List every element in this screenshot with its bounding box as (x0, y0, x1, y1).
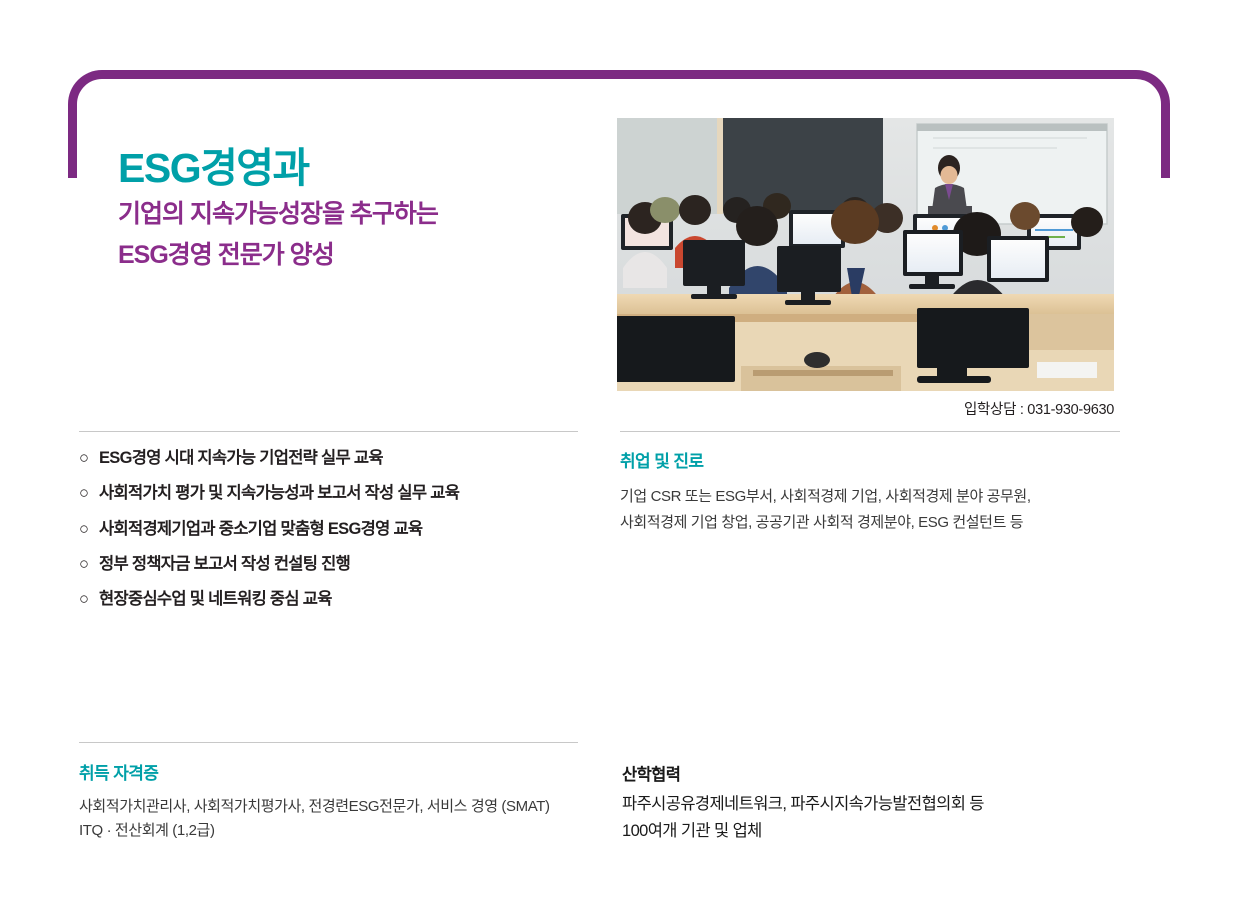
list-item: ○정부 정책자금 보고서 작성 컨설팅 진행 (79, 555, 599, 575)
feature-text: 사회적경제기업과 중소기업 맞춤형 ESG경영 교육 (99, 520, 422, 538)
list-item: ○현장중심수업 및 네트워킹 중심 교육 (79, 590, 599, 610)
certificates-line-2: ITQ · 전산회계 (1,2급) (79, 819, 599, 843)
frame-top-bar (102, 70, 1136, 79)
certificates-line-1: 사회적가치관리사, 사회적가치평가사, 전경련ESG전문가, 서비스 경영 (S… (79, 795, 599, 819)
cooperation-body: 파주시공유경제네트워크, 파주시지속가능발전협의회 등 100여개 기관 및 업… (622, 791, 1092, 844)
feature-text: 정부 정책자금 보고서 작성 컨설팅 진행 (99, 555, 350, 573)
admission-contact: 입학상담 : 031-930-9630 (617, 398, 1114, 419)
feature-text: ESG경영 시대 지속가능 기업전략 실무 교육 (99, 449, 383, 467)
cooperation-heading: 산학협력 (622, 761, 680, 785)
tagline-line-2: ESG경영 전문가 양성 (118, 235, 438, 276)
bullet-circle-icon: ○ (79, 484, 99, 504)
divider-certificates (79, 742, 578, 743)
divider-careers (620, 431, 1120, 432)
feature-text: 현장중심수업 및 네트워킹 중심 교육 (99, 590, 332, 608)
bullet-circle-icon: ○ (79, 555, 99, 575)
feature-list: ○ESG경영 시대 지속가능 기업전략 실무 교육 ○사회적가치 평가 및 지속… (79, 449, 599, 625)
department-title: ESG경영과 (118, 145, 309, 192)
careers-line-2: 사회적경제 기업 창업, 공공기관 사회적 경제분야, ESG 컨설턴트 등 (620, 510, 1130, 536)
frame-left-arm (68, 70, 111, 178)
bullet-circle-icon: ○ (79, 520, 99, 540)
certificates-body: 사회적가치관리사, 사회적가치평가사, 전경련ESG전문가, 서비스 경영 (S… (79, 795, 599, 844)
classroom-photo (617, 118, 1114, 391)
list-item: ○사회적가치 평가 및 지속가능성과 보고서 작성 실무 교육 (79, 484, 599, 504)
frame-right-arm (1127, 70, 1170, 178)
careers-heading: 취업 및 진로 (620, 447, 703, 472)
feature-text: 사회적가치 평가 및 지속가능성과 보고서 작성 실무 교육 (99, 484, 459, 502)
cooperation-line-2: 100여개 기관 및 업체 (622, 818, 1092, 845)
careers-line-1: 기업 CSR 또는 ESG부서, 사회적경제 기업, 사회적경제 분야 공무원, (620, 484, 1130, 510)
bullet-circle-icon: ○ (79, 590, 99, 610)
tagline-line-1: 기업의 지속가능성장을 추구하는 (118, 194, 438, 235)
divider-features (79, 431, 578, 432)
cooperation-line-1: 파주시공유경제네트워크, 파주시지속가능발전협의회 등 (622, 791, 1092, 818)
list-item: ○ESG경영 시대 지속가능 기업전략 실무 교육 (79, 449, 599, 469)
certificates-heading: 취득 자격증 (79, 759, 158, 784)
careers-body: 기업 CSR 또는 ESG부서, 사회적경제 기업, 사회적경제 분야 공무원,… (620, 484, 1130, 536)
bullet-circle-icon: ○ (79, 449, 99, 469)
department-tagline: 기업의 지속가능성장을 추구하는 ESG경영 전문가 양성 (118, 194, 438, 275)
list-item: ○사회적경제기업과 중소기업 맞춤형 ESG경영 교육 (79, 520, 599, 540)
classroom-photo-illustration (617, 118, 1114, 391)
